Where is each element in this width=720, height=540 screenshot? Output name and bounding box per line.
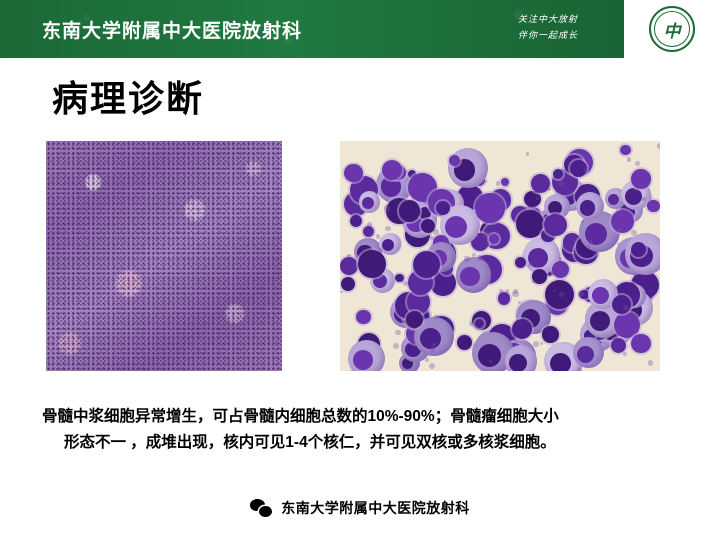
cell-debris: [577, 368, 582, 371]
cell-debris: [489, 360, 492, 363]
cell-debris: [623, 352, 627, 356]
bone-marrow-smear-image: [340, 141, 660, 371]
cell-debris: [578, 291, 584, 297]
cell-nucleus: [460, 267, 479, 286]
caption-line-1: 骨髓中浆细胞异常增生，可占骨髓内细胞总数的10%-90%；骨髓瘤细胞大小: [42, 408, 559, 425]
cell-debris: [477, 255, 483, 261]
cell-debris: [648, 360, 653, 365]
cell-debris: [657, 143, 660, 149]
histology-image: [46, 141, 282, 371]
cell-debris: [506, 289, 509, 292]
cell-debris: [635, 161, 640, 166]
cell-debris: [464, 256, 469, 261]
footer-text: 东南大学附属中大医院放射科: [281, 498, 470, 518]
cell-debris: [513, 289, 518, 294]
footer: 东南大学附属中大医院放射科: [0, 498, 720, 518]
cell-debris: [403, 281, 408, 286]
cell-marker: [449, 155, 460, 166]
cell-marker: [542, 326, 558, 342]
cell-debris: [395, 330, 400, 335]
cell-debris: [376, 234, 380, 238]
header-title: 东南大学附属中大医院放射科: [42, 16, 302, 43]
cell-debris: [425, 358, 429, 362]
cell-debris: [623, 305, 628, 310]
cell-marker: [552, 261, 569, 278]
cell-debris: [385, 226, 391, 232]
cell-debris: [627, 157, 632, 162]
cell-marker: [498, 292, 511, 305]
cell-marker: [395, 274, 404, 283]
histology-image-texture: [46, 141, 282, 371]
cell-marker: [457, 335, 472, 350]
cell-debris: [526, 152, 530, 156]
cell-nucleus: [577, 346, 594, 363]
cell-marker: [631, 334, 651, 354]
cell-debris: [340, 291, 343, 294]
cell-debris: [393, 343, 399, 349]
cell-debris: [472, 253, 476, 257]
cell-marker: [475, 193, 504, 222]
cell-nucleus: [548, 201, 562, 215]
cell-marker: [340, 257, 358, 275]
cell-marker: [515, 257, 526, 268]
cell-marker: [631, 242, 646, 257]
cell-nucleus: [625, 188, 642, 205]
cell-marker: [544, 214, 567, 237]
cell-marker: [356, 310, 370, 324]
cell-nucleus: [362, 197, 374, 209]
cell-debris: [430, 236, 434, 240]
header-slogan: 关注中大放射 伴你一起成长: [488, 11, 608, 43]
cell-marker: [363, 226, 374, 237]
header-slogan-line1: 关注中大放射: [488, 11, 608, 27]
cell-nucleus: [580, 200, 595, 215]
header-slogan-line2: 伴你一起成长: [488, 27, 608, 43]
cell-nucleus: [382, 239, 394, 251]
cell-debris: [559, 292, 564, 297]
cell-debris: [584, 167, 590, 173]
cell-debris: [367, 222, 372, 227]
cell-nucleus: [445, 216, 467, 238]
cell-debris: [559, 181, 564, 186]
header-bar: 东南大学附属中大医院放射科 关注中大放射 伴你一起成长 中: [0, 0, 720, 58]
caption-text: 骨髓中浆细胞异常增生，可占骨髓内细胞总数的10%-90%；骨髓瘤细胞大小 形态不…: [42, 404, 682, 456]
caption-line-2: 形态不一 ，成堆出现，核内可见1-4个核仁，并可见双核或多核浆细胞。: [42, 430, 682, 456]
cell-debris: [429, 363, 435, 369]
cell-marker: [358, 250, 386, 278]
cell-marker: [620, 145, 630, 155]
cell-debris: [540, 342, 544, 346]
cell-nucleus: [478, 344, 501, 367]
cell-debris: [513, 341, 518, 346]
cell-nucleus: [608, 194, 619, 205]
cell-marker: [631, 169, 650, 188]
cell-debris: [469, 321, 474, 326]
cell-debris: [484, 180, 487, 183]
cell-marker: [350, 215, 362, 227]
cell-debris: [553, 290, 556, 293]
cell-marker: [489, 234, 499, 244]
cell-marker: [516, 210, 544, 238]
cell-debris: [548, 188, 551, 191]
cell-debris: [348, 370, 355, 371]
cell-marker: [399, 200, 421, 222]
cell-debris: [444, 268, 448, 272]
logo-outer-circle: 中: [649, 6, 695, 52]
hospital-logo: 中: [624, 0, 720, 58]
cell-nucleus: [592, 287, 609, 304]
cell-debris: [499, 289, 503, 293]
cell-nucleus: [550, 353, 571, 371]
wechat-icon: [250, 499, 272, 517]
page-title: 病理诊断: [52, 70, 204, 122]
cell-marker: [512, 319, 532, 339]
slide: 东南大学附属中大医院放射科 关注中大放射 伴你一起成长 中 病理诊断 骨髓中浆细…: [0, 0, 720, 540]
logo-character: 中: [654, 11, 690, 47]
bone-marrow-cells: [340, 141, 660, 371]
cell-debris: [587, 245, 591, 249]
cell-nucleus: [509, 354, 527, 371]
cell-debris: [433, 229, 439, 235]
cell-debris: [505, 184, 508, 187]
cell-debris: [496, 181, 501, 186]
cell-marker: [611, 210, 634, 233]
wechat-icon-bubble-small: [259, 506, 272, 517]
cell-marker: [647, 200, 660, 213]
cell-debris: [533, 341, 539, 347]
cell-marker: [611, 338, 627, 354]
cell-debris: [532, 280, 535, 283]
cell-marker: [341, 277, 355, 291]
